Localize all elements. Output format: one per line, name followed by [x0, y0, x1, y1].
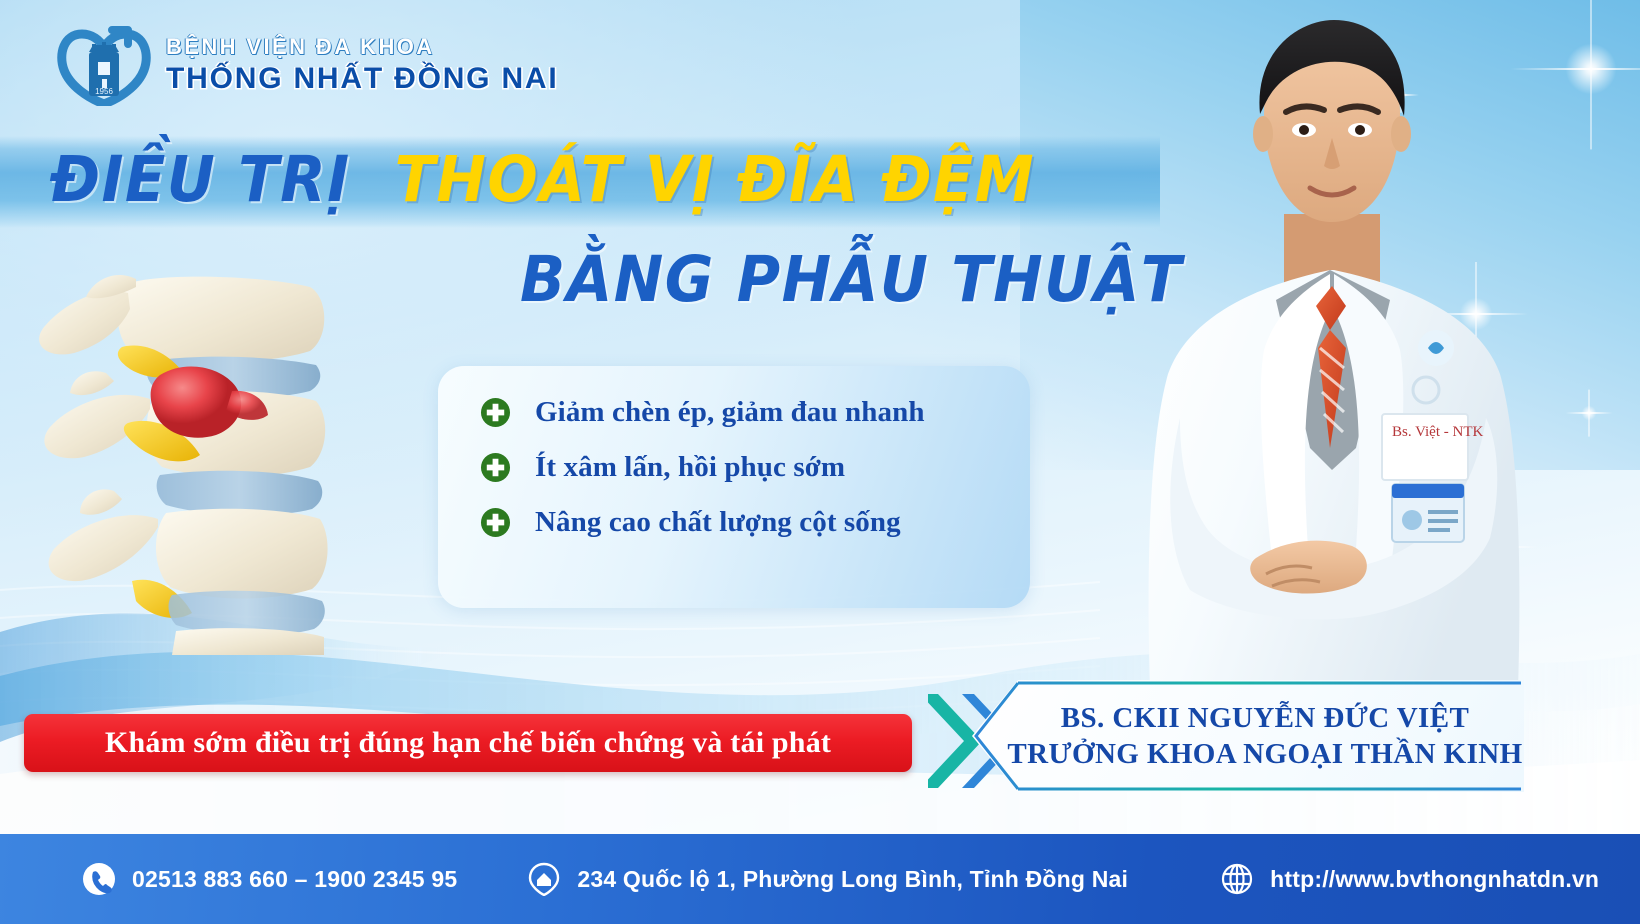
logo-line-1: BỆNH VIỆN ĐA KHOA [166, 36, 559, 58]
benefit-item: Nâng cao chất lượng cột sống [480, 506, 1030, 539]
footer-address[interactable]: 234 Quốc lộ 1, Phường Long Bình, Tỉnh Đồ… [527, 862, 1128, 896]
globe-icon [1220, 862, 1254, 896]
benefit-label: Giảm chèn ép, giảm đau nhanh [535, 396, 925, 429]
headline-part-condition: THOÁT VỊ ĐĨA ĐỆM [395, 143, 1036, 216]
heart-tower-logo-icon: 1956 [56, 24, 152, 106]
doctor-portrait-image: Bs. Việt - NTK [1124, 18, 1544, 690]
doctor-name: BS. CKII NGUYỄN ĐỨC VIỆT [1027, 702, 1469, 735]
logo-wordmark: BỆNH VIỆN ĐA KHOA THỐNG NHẤT ĐỒNG NAI [166, 36, 559, 94]
headline-line-1: ĐIỀU TRỊ THOÁT VỊ ĐĨA ĐỆM [50, 143, 1035, 216]
footer-phone-text: 02513 883 660 – 1900 2345 95 [132, 866, 457, 893]
footer-phone[interactable]: 02513 883 660 – 1900 2345 95 [82, 862, 457, 896]
headline-part-treat: ĐIỀU TRỊ [50, 143, 351, 216]
callout-banner: Khám sớm điều trị đúng hạn chế biến chứn… [24, 714, 912, 772]
plus-circle-icon [480, 452, 511, 483]
benefit-label: Ít xâm lấn, hồi phục sớm [535, 451, 845, 484]
doctor-role: TRƯỞNG KHOA NGOẠI THẦN KINH [973, 738, 1522, 771]
plus-circle-icon [480, 397, 511, 428]
benefit-item: Giảm chèn ép, giảm đau nhanh [480, 396, 1030, 429]
footer-website[interactable]: http://www.bvthongnhatdn.vn [1220, 862, 1599, 896]
coat-embroidery-text: Bs. Việt - NTK [1392, 424, 1483, 440]
sparkle-icon [1560, 38, 1622, 100]
herniated-disc-spine-image [10, 275, 370, 655]
footer-address-text: 234 Quốc lộ 1, Phường Long Bình, Tỉnh Đồ… [577, 866, 1128, 893]
headline-line-2: BẰNG PHẪU THUẬT [520, 243, 1183, 316]
benefit-label: Nâng cao chất lượng cột sống [535, 506, 901, 539]
logo-line-2: THỐNG NHẤT ĐỒNG NAI [166, 64, 559, 94]
footer-contact-bar: 02513 883 660 – 1900 2345 95 234 Quốc lộ… [0, 834, 1640, 924]
banner-root: 1956 BỆNH VIỆN ĐA KHOA THỐNG NHẤT ĐỒNG N… [0, 0, 1640, 924]
plus-circle-icon [480, 507, 511, 538]
doctor-nameplate: BS. CKII NGUYỄN ĐỨC VIỆT TRƯỞNG KHOA NGO… [972, 680, 1524, 792]
logo-year: 1956 [95, 87, 113, 96]
location-pin-icon [527, 862, 561, 896]
benefits-card: Giảm chèn ép, giảm đau nhanh Ít xâm lấn,… [438, 366, 1030, 608]
callout-text: Khám sớm điều trị đúng hạn chế biến chứn… [105, 726, 831, 760]
sparkle-icon [1580, 404, 1598, 422]
footer-website-text: http://www.bvthongnhatdn.vn [1270, 866, 1599, 893]
hospital-logo[interactable]: 1956 BỆNH VIỆN ĐA KHOA THỐNG NHẤT ĐỒNG N… [56, 24, 559, 106]
phone-icon [82, 862, 116, 896]
benefit-item: Ít xâm lấn, hồi phục sớm [480, 451, 1030, 484]
